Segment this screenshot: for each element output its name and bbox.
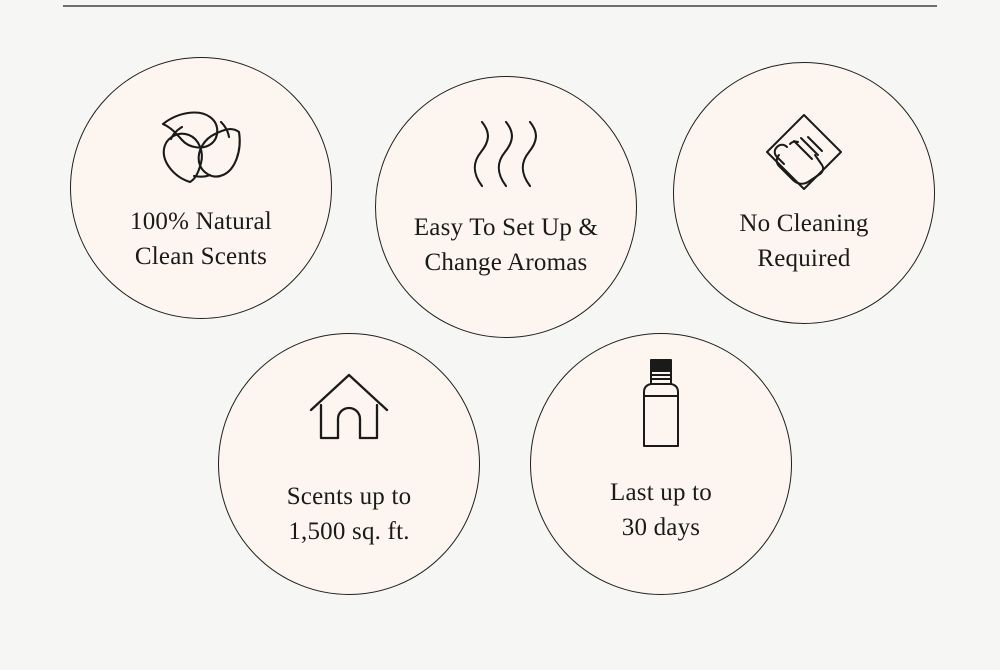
house-icon [308, 366, 390, 450]
vapor-waves-icon [469, 115, 543, 195]
badge-grid: 100% Natural Clean Scents Easy To Set Up… [0, 0, 1000, 670]
feature-badge-natural-clean-scents: 100% Natural Clean Scents [70, 57, 332, 319]
badge-label: 100% Natural Clean Scents [112, 205, 290, 274]
feature-badge-coverage-area: Scents up to 1,500 sq. ft. [218, 333, 480, 595]
badge-label: No Cleaning Required [721, 207, 886, 276]
badge-label: Last up to 30 days [592, 476, 730, 545]
product-feature-badges-section: 100% Natural Clean Scents Easy To Set Up… [0, 0, 1000, 670]
badge-label: Easy To Set Up & Change Aromas [396, 211, 616, 280]
badge-label: Scents up to 1,500 sq. ft. [269, 480, 430, 549]
three-leaves-recycle-icon [158, 103, 244, 189]
hand-wiping-cloth-icon [763, 111, 845, 193]
oil-bottle-icon [635, 358, 687, 450]
feature-badge-no-cleaning: No Cleaning Required [673, 62, 935, 324]
feature-badge-easy-setup: Easy To Set Up & Change Aromas [375, 76, 637, 338]
feature-badge-duration: Last up to 30 days [530, 333, 792, 595]
